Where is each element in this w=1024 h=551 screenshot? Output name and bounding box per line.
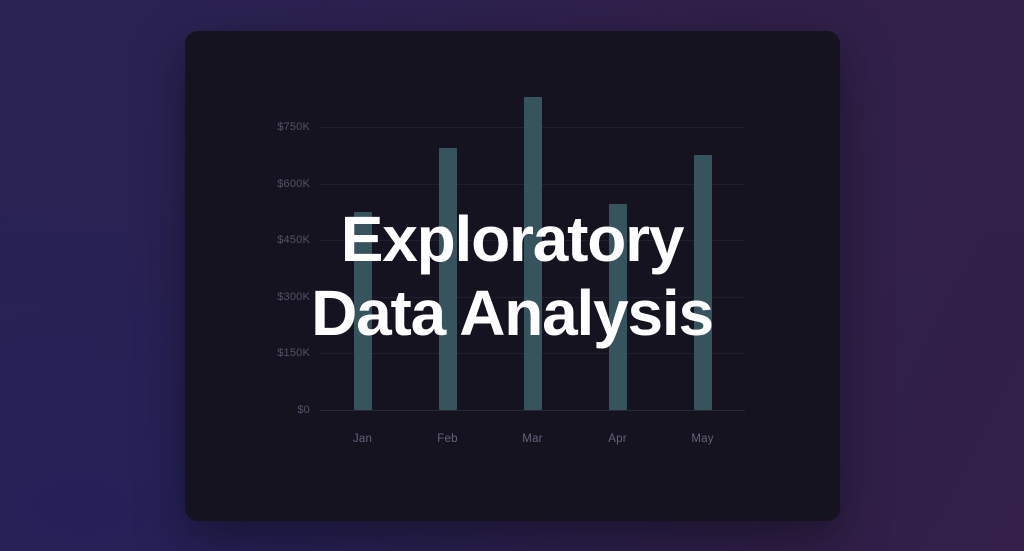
y-axis-tick-label: $0 — [220, 404, 310, 416]
x-axis-label-jan: Jan — [328, 433, 398, 445]
bar-jan[interactable] — [354, 212, 372, 410]
y-axis-tick-label: $750K — [220, 121, 310, 133]
chart-card: $0$150K$300K$450K$600K$750K JanFebMarApr… — [185, 31, 840, 521]
x-axis-label-mar: Mar — [498, 433, 568, 445]
x-axis-label-may: May — [668, 433, 738, 445]
y-axis-tick-label: $450K — [220, 234, 310, 246]
y-axis-tick-label: $300K — [220, 291, 310, 303]
x-axis-label-apr: Apr — [583, 433, 653, 445]
gridline — [320, 410, 745, 411]
bar-apr[interactable] — [609, 204, 627, 410]
y-axis-tick-label: $150K — [220, 347, 310, 359]
screenshot-canvas: $0$150K$300K$450K$600K$750K JanFebMarApr… — [0, 0, 1024, 551]
bar-mar[interactable] — [524, 97, 542, 410]
y-axis-tick-label: $600K — [220, 178, 310, 190]
bar-feb[interactable] — [439, 148, 457, 410]
x-axis-label-feb: Feb — [413, 433, 483, 445]
bar-chart: $0$150K$300K$450K$600K$750K JanFebMarApr… — [185, 31, 840, 521]
bar-may[interactable] — [694, 155, 712, 410]
